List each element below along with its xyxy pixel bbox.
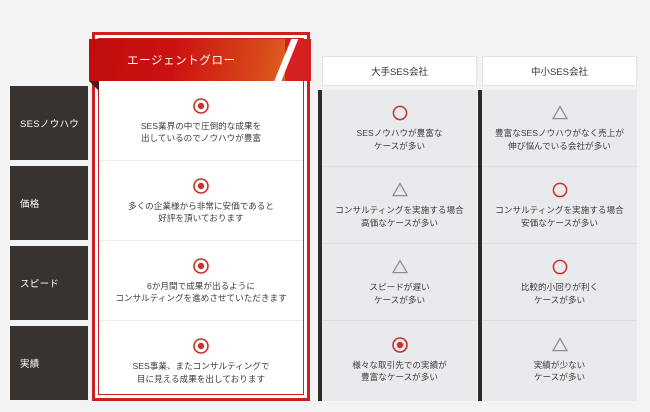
cell-text: SES業界の中で圧倒的な成果を 出しているのでノウハウが豊富 [141, 120, 261, 145]
row-label-ses-knowhow: SESノウハウ [10, 86, 88, 160]
banner-fold-shadow [89, 81, 99, 91]
double-circle-icon [192, 97, 210, 115]
row-label-results: 実績 [10, 326, 88, 400]
featured-cell-price: 多くの企業様から非常に安価であると 好評を頂いております [99, 161, 303, 241]
circle-open-icon [551, 258, 569, 276]
featured-cell-speed: 6か月間で成果が出るように コンサルティングを進めさせていただきます [99, 241, 303, 321]
cell-price: コンサルティングを実施する場合 安価なケースが多い [482, 167, 637, 244]
row-label-text: SESノウハウ [20, 116, 79, 130]
cell-text: 多くの企業様から非常に安価であると 好評を頂いております [128, 200, 274, 225]
row-label-text: 実績 [20, 356, 40, 370]
triangle-icon [391, 181, 409, 199]
cell-text: 豊富なSESノウハウがなく売上が 伸び悩んでいる会社が多い [495, 127, 624, 152]
comparison-table-page: SESノウハウ 価格 スピード 実績 エージェントグロー [0, 0, 650, 412]
circle-open-icon [551, 181, 569, 199]
triangle-icon [391, 258, 409, 276]
cell-ses-knowhow: SESノウハウが豊富な ケースが多い [322, 90, 477, 167]
row-label-text: スピード [20, 276, 59, 290]
cell-price: コンサルティングを実施する場合 高価なケースが多い [322, 167, 477, 244]
column-header: 大手SES会社 [322, 56, 477, 86]
column-header: 中小SES会社 [482, 56, 637, 86]
column-large-ses-company: 大手SES会社 SESノウハウが豊富な ケースが多い コンサルティングを実施する… [322, 56, 477, 401]
double-circle-icon [391, 336, 409, 354]
featured-banner-label: エージェントグロー [127, 52, 236, 68]
double-circle-icon [192, 257, 210, 275]
cell-text: SESノウハウが豊富な ケースが多い [357, 127, 443, 152]
cell-text: スピードが遅い ケースが多い [369, 281, 429, 306]
featured-cell-results: SES事業、またコンサルティングで 目に見える成果を出しております [99, 321, 303, 401]
cell-speed: スピードが遅い ケースが多い [322, 244, 477, 321]
column-small-medium-ses-company: 中小SES会社 豊富なSESノウハウがなく売上が 伸び悩んでいる会社が多い コン… [482, 56, 637, 401]
cell-text: 6か月間で成果が出るように コンサルティングを進めさせていただきます [115, 280, 286, 305]
triangle-icon [551, 336, 569, 354]
row-label-speed: スピード [10, 246, 88, 320]
row-label-price: 価格 [10, 166, 88, 240]
cell-text: コンサルティングを実施する場合 安価なケースが多い [495, 204, 623, 229]
cell-ses-knowhow: 豊富なSESノウハウがなく売上が 伸び悩んでいる会社が多い [482, 90, 637, 167]
circle-open-icon [391, 104, 409, 122]
cell-speed: 比較的小回りが利く ケースが多い [482, 244, 637, 321]
featured-cells: SES業界の中で圧倒的な成果を 出しているのでノウハウが豊富 多くの企業様から非… [99, 81, 303, 394]
row-label-text: 価格 [20, 196, 40, 210]
column-body: 豊富なSESノウハウがなく売上が 伸び悩んでいる会社が多い コンサルティングを実… [482, 90, 637, 401]
triangle-icon [551, 104, 569, 122]
featured-cell-ses-knowhow: SES業界の中で圧倒的な成果を 出しているのでノウハウが豊富 [99, 81, 303, 161]
featured-column-inner: エージェントグロー SES業界の中で圧倒的な成果を 出しているのでノウハウが豊富 [98, 38, 304, 395]
double-circle-icon [192, 337, 210, 355]
cell-text: 比較的小回りが利く ケースが多い [521, 281, 598, 306]
cell-results: 様々な取引先での実績が 豊富なケースが多い [322, 321, 477, 398]
cell-text: 様々な取引先での実績が 豊富なケースが多い [352, 359, 447, 384]
column-body: SESノウハウが豊富な ケースが多い コンサルティングを実施する場合 高価なケー… [322, 90, 477, 401]
double-circle-icon [192, 177, 210, 195]
cell-results: 実績が少ない ケースが多い [482, 321, 637, 398]
cell-text: SES事業、またコンサルティングで 目に見える成果を出しております [133, 360, 270, 385]
cell-text: 実績が少ない ケースが多い [534, 359, 586, 384]
cell-text: コンサルティングを実施する場合 高価なケースが多い [335, 204, 463, 229]
featured-column: エージェントグロー SES業界の中で圧倒的な成果を 出しているのでノウハウが豊富 [92, 32, 310, 401]
row-label-column: SESノウハウ 価格 スピード 実績 [10, 86, 88, 400]
